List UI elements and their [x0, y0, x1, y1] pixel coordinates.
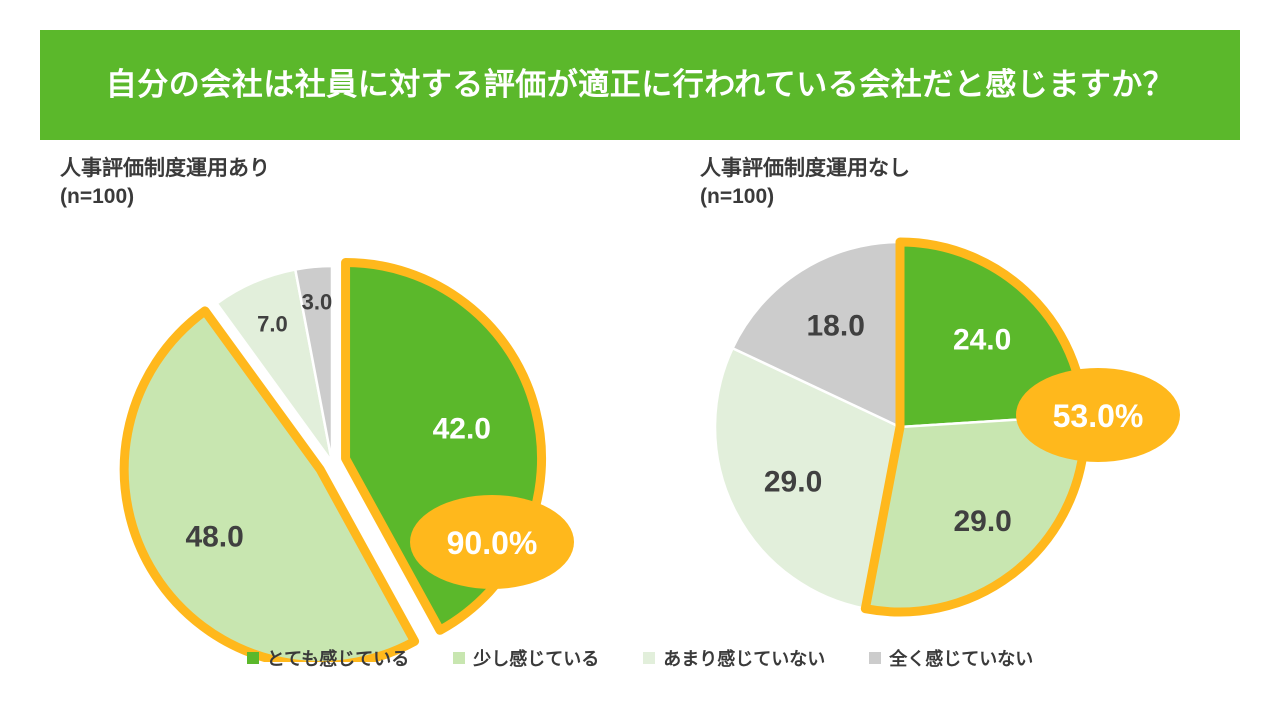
chart-panel-left: 人事評価制度運用あり(n=100) 42.048.07.03.090.0%: [60, 155, 660, 662]
legend-item: とても感じている: [247, 645, 410, 671]
legend-swatch-icon: [869, 652, 881, 664]
highlight-badge-label: 53.0%: [1053, 398, 1144, 434]
pie-slice-value-label: 18.0: [807, 309, 865, 342]
pie-slice-value-label: 24.0: [953, 323, 1011, 356]
legend-item-label: 全く感じていない: [889, 645, 1033, 671]
chart-title-right-line2: (n=100): [700, 185, 774, 208]
legend-item: 全く感じていない: [869, 645, 1033, 671]
legend-item-label: とても感じている: [267, 645, 410, 671]
page-title: 自分の会社は社員に対する評価が適正に行われている会社だと感じますか？: [106, 66, 1175, 103]
pie-chart-left-svg: 42.048.07.03.090.0%: [60, 212, 660, 662]
legend-item-label: 少し感じている: [473, 645, 599, 671]
pie-slice-value-label: 42.0: [433, 412, 491, 445]
pie-slice-value-label: 29.0: [764, 465, 822, 498]
chart-title-left-line1: 人事評価制度運用あり: [60, 157, 270, 180]
chart-title-left: 人事評価制度運用あり(n=100): [60, 155, 660, 212]
chart-panel-right: 人事評価制度運用なし(n=100) 24.029.029.018.053.0%: [700, 155, 1260, 652]
chart-title-right: 人事評価制度運用なし(n=100): [700, 155, 1260, 212]
pie-chart-left: 42.048.07.03.090.0%: [60, 212, 660, 662]
highlight-badge-label: 90.0%: [447, 525, 538, 561]
chart-title-right-line1: 人事評価制度運用なし: [700, 157, 910, 180]
legend-item: 少し感じている: [453, 645, 599, 671]
pie-slice-value-label: 3.0: [302, 289, 333, 314]
chart-title-left-line2: (n=100): [60, 185, 134, 208]
legend-swatch-icon: [247, 652, 259, 664]
pie-slice-value-label: 29.0: [953, 504, 1011, 537]
pie-chart-right-svg: 24.029.029.018.053.0%: [700, 212, 1260, 652]
legend-swatch-icon: [643, 652, 655, 664]
legend-item-label: あまり感じていない: [663, 645, 825, 671]
pie-chart-right: 24.029.029.018.053.0%: [700, 212, 1260, 652]
pie-slice-value-label: 48.0: [185, 520, 243, 553]
chart-legend: とても感じている 少し感じている あまり感じていない 全く感じていない: [0, 645, 1280, 671]
pie-slice-value-label: 7.0: [257, 311, 288, 336]
header-banner: 自分の会社は社員に対する評価が適正に行われている会社だと感じますか？: [40, 30, 1240, 140]
legend-swatch-icon: [453, 652, 465, 664]
legend-item: あまり感じていない: [643, 645, 825, 671]
